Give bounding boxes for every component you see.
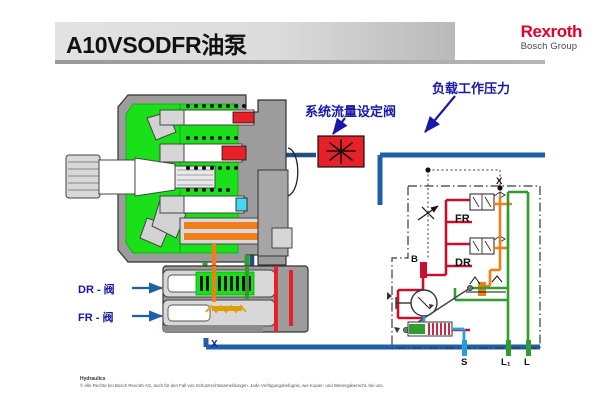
schematic-label-x: X (496, 176, 503, 187)
dr-valve-cartridge (163, 270, 275, 297)
leader-load-pressure (425, 96, 455, 132)
footer-copyright: © Alle Rechte bei Bosch Rexroth AG, auch… (80, 383, 384, 389)
dr-fr-valve-block (163, 266, 308, 332)
footer-product-line: Hydraulics (80, 376, 384, 383)
annotation-flow-setting-valve: 系统流量设定阀 (305, 101, 396, 120)
annotation-load-working-pressure: 负载工作压力 (432, 78, 510, 97)
schematic-label-b: B (411, 254, 418, 265)
label-fr-valve: FR - 阀 (78, 309, 113, 325)
hydraulic-schematic: FR DR B X S L₁ L (387, 167, 540, 368)
schematic-label-l1: L₁ (501, 357, 511, 368)
port-b-stub (420, 262, 427, 278)
schematic-label-s: S (461, 357, 467, 368)
piston-pressure-chamber-mid (222, 146, 246, 160)
schematic-label-dr: DR (455, 257, 471, 269)
label-port-x-pump: X (211, 339, 218, 350)
piston-suction-chamber (236, 198, 247, 211)
port-l-stub (526, 340, 531, 356)
schematic-adjust-arrow (418, 206, 438, 220)
footer: Hydraulics © Alle Rechte bei Bosch Rexro… (80, 376, 384, 389)
port-l1-stub (506, 340, 511, 356)
label-dr-valve: DR - 阀 (78, 281, 115, 297)
schematic-bias-spring (408, 322, 452, 336)
port-s-stub (462, 340, 467, 356)
technical-illustration: FR DR B X S L₁ L (0, 0, 600, 414)
schematic-pressure-lines (398, 200, 492, 330)
leader-flow-valve (333, 118, 345, 134)
fr-valve-cartridge (163, 300, 275, 326)
piston-pressure-chamber-top (233, 112, 254, 123)
pilot-junction-dot (425, 167, 430, 172)
schematic-label-l: L (524, 357, 530, 368)
schematic-label-fr: FR (455, 213, 470, 225)
flow-setting-throttle-valve[interactable] (318, 136, 364, 167)
dr-spring-coils (200, 276, 251, 291)
control-piston-orange (180, 218, 266, 244)
slide-canvas: A10VSODFR油泵 Rexroth Bosch Group (0, 0, 600, 414)
callout-arrows (132, 288, 162, 316)
